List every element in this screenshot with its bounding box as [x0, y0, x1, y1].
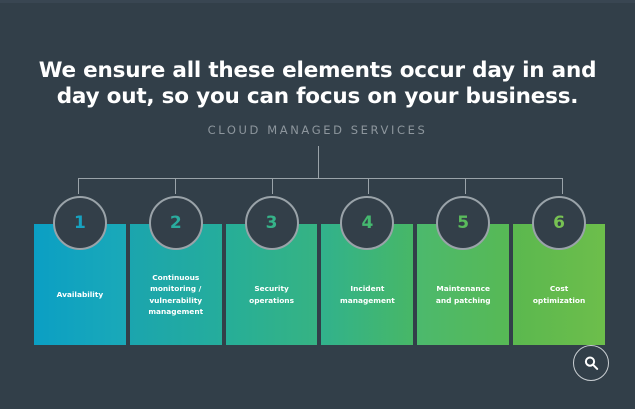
step-circle[interactable]: 1: [53, 196, 107, 250]
step-circle[interactable]: 3: [245, 196, 299, 250]
service-card[interactable]: 2Continuous monitoring / vulnerability m…: [130, 224, 222, 345]
search-button[interactable]: [573, 345, 609, 381]
step-number: 1: [74, 215, 86, 232]
connector-stem: [318, 146, 319, 178]
heading-block: We ensure all these elements occur day i…: [0, 58, 635, 137]
service-card-label: Availability: [51, 289, 110, 301]
cards-row: 1Availability2Continuous monitoring / vu…: [34, 224, 605, 345]
slide-canvas: We ensure all these elements occur day i…: [0, 0, 635, 409]
connector-drop: [272, 178, 273, 194]
service-card-label: Security operations: [243, 283, 300, 306]
service-card[interactable]: 4Incident management: [321, 224, 413, 345]
service-card[interactable]: 5Maintenance and patching: [417, 224, 509, 345]
connector-drop: [465, 178, 466, 194]
service-card-label: Cost optimization: [527, 283, 591, 306]
step-number: 4: [361, 215, 373, 232]
step-circle[interactable]: 2: [149, 196, 203, 250]
connector-drop: [368, 178, 369, 194]
connector-drop: [78, 178, 79, 194]
service-card[interactable]: 3Security operations: [226, 224, 318, 345]
page-subtitle: CLOUD MANAGED SERVICES: [0, 123, 635, 137]
step-circle[interactable]: 5: [436, 196, 490, 250]
service-card[interactable]: 1Availability: [34, 224, 126, 345]
connector-drop: [175, 178, 176, 194]
step-number: 5: [457, 215, 469, 232]
step-number: 2: [170, 215, 182, 232]
top-edge-band: [0, 0, 635, 3]
step-number: 6: [553, 215, 565, 232]
service-card-label: Incident management: [334, 283, 401, 306]
search-icon: [583, 355, 600, 372]
step-circle[interactable]: 6: [532, 196, 586, 250]
connector-drop: [562, 178, 563, 194]
service-card-label: Continuous monitoring / vulnerability ma…: [142, 272, 209, 318]
page-title: We ensure all these elements occur day i…: [38, 58, 598, 110]
service-card[interactable]: 6Cost optimization: [513, 224, 605, 345]
step-circle[interactable]: 4: [340, 196, 394, 250]
step-number: 3: [266, 215, 278, 232]
connector-horizontal-bar: [78, 178, 562, 179]
service-card-label: Maintenance and patching: [430, 283, 497, 306]
